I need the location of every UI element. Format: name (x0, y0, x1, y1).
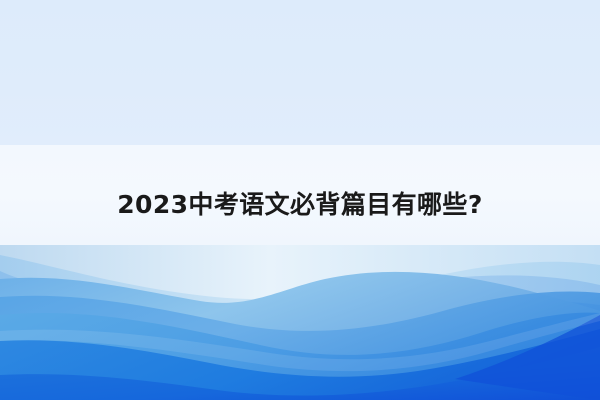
cover-title-text: 2023中考语文必背篇目有哪些? (117, 190, 482, 220)
blue-wave-illustration (0, 245, 600, 400)
cover-title: 2023中考语文必背篇目有哪些? (0, 190, 600, 220)
wave-graphic (0, 245, 600, 400)
top-light-blue-band (0, 0, 600, 145)
cover-image-canvas: 2023中考语文必背篇目有哪些? (0, 0, 600, 400)
